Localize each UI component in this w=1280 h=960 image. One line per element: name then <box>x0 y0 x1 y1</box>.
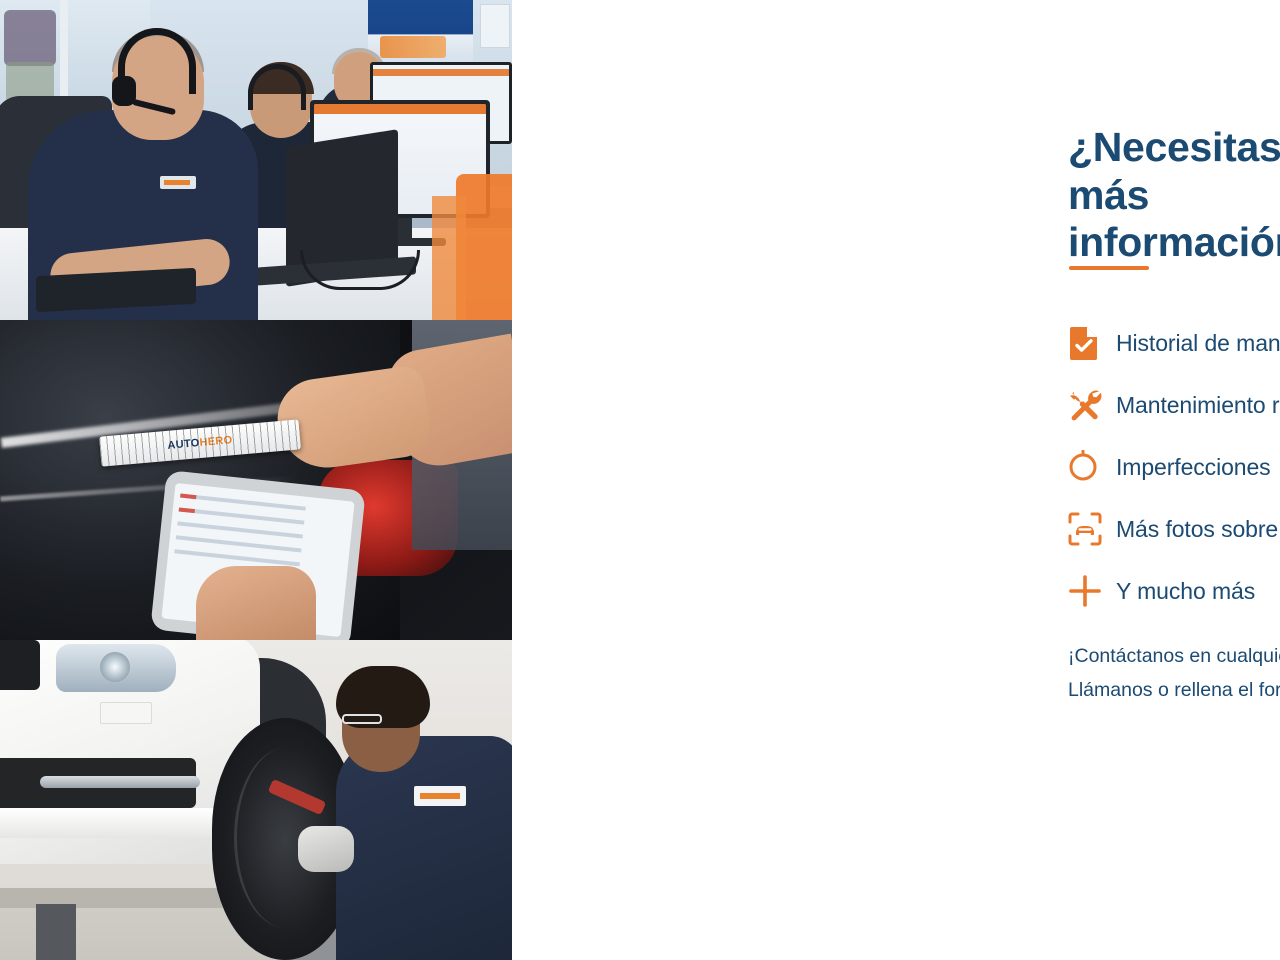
car-lift-post <box>36 904 76 960</box>
wall-poster-small <box>480 4 510 48</box>
feature-label: Historial de mantenimientos <box>1116 330 1280 357</box>
license-plate <box>100 702 152 724</box>
photo-column: AUTOHERO <box>0 0 512 960</box>
wall-poster <box>368 0 473 62</box>
feature-list: Historial de mantenimientos Mantenimient… <box>1068 312 1280 622</box>
feature-item-maintenance-history: Historial de mantenimientos <box>1068 312 1280 374</box>
mechanic-logo-badge <box>414 786 466 806</box>
plus-icon <box>1068 574 1116 608</box>
orange-chair-2 <box>432 196 466 320</box>
agent-one-logo-badge <box>160 176 196 189</box>
mechanic-glasses <box>342 714 382 724</box>
call-center-agents-photo <box>0 0 512 320</box>
title-divider <box>1069 266 1149 270</box>
car-scan-frame-icon <box>1068 512 1116 546</box>
feature-label: Mantenimiento realizado <box>1116 392 1280 419</box>
car-headlight <box>56 644 176 692</box>
tools-wrench-screwdriver-icon <box>1068 388 1116 422</box>
feature-label: Y mucho más <box>1116 578 1255 605</box>
feature-item-more-photos: Más fotos sobre el coche <box>1068 498 1280 560</box>
mechanic-body <box>336 736 512 960</box>
document-check-icon <box>1068 326 1116 361</box>
car-grille <box>0 640 40 690</box>
contact-paragraph: ¡Contáctanos en cualquier momento para m… <box>1068 640 1280 707</box>
outdoor-foliage <box>4 10 56 66</box>
content-column: ¿Necesitas más información? Historial de… <box>512 0 1280 960</box>
mechanic-tire-change-photo <box>0 640 512 960</box>
page-title: ¿Necesitas más información? <box>1068 124 1280 267</box>
magnifier-icon <box>1068 450 1116 484</box>
feature-item-more: Y mucho más <box>1068 560 1280 622</box>
chrome-trim <box>40 776 200 788</box>
promo-page: AUTOHERO <box>0 0 1280 960</box>
feature-item-maintenance-done: Mantenimiento realizado <box>1068 374 1280 436</box>
front-bumper <box>0 808 216 838</box>
car-inspection-ruler-photo: AUTOHERO <box>0 320 512 640</box>
feature-label: Más fotos sobre el coche <box>1116 516 1280 543</box>
feature-item-imperfections: Imperfecciones <box>1068 436 1280 498</box>
inspector-hand-holding-tablet <box>196 566 316 640</box>
feature-label: Imperfecciones <box>1116 454 1271 481</box>
mechanic-glove <box>298 826 354 872</box>
